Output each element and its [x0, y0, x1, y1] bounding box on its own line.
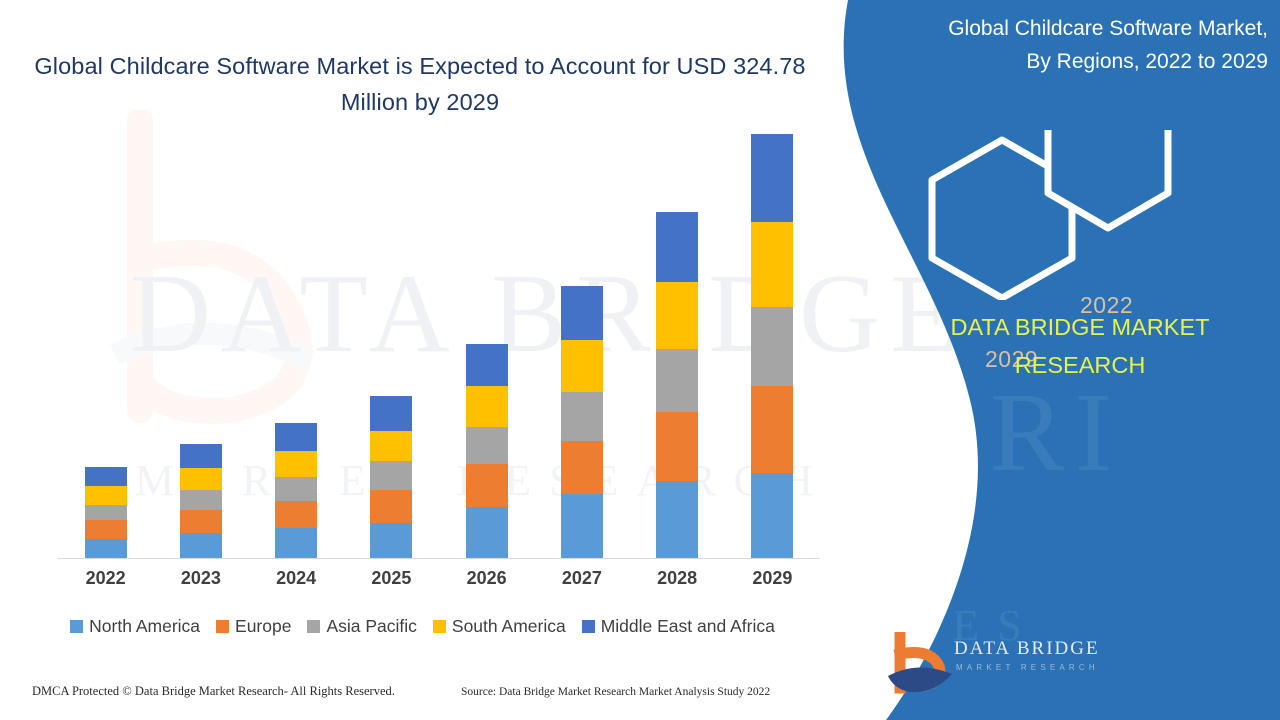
- bar-series-group: [58, 120, 820, 558]
- stacked-bar[interactable]: [180, 444, 222, 558]
- panel-title-line2: By Regions, 2022 to 2029: [890, 45, 1268, 78]
- bar-segment[interactable]: [85, 486, 127, 504]
- bar-segment[interactable]: [656, 282, 698, 349]
- x-axis-label: 2023: [153, 568, 248, 589]
- stacked-bar[interactable]: [561, 286, 603, 558]
- infographic-canvas: DATA BRIDGE MARKET RESEARCH Global Child…: [0, 0, 1280, 720]
- bar-segment[interactable]: [275, 528, 317, 558]
- bar-group-2028: [630, 120, 725, 558]
- stacked-bar[interactable]: [656, 212, 698, 558]
- bar-segment[interactable]: [370, 396, 412, 430]
- brand-panel-content: Global Childcare Software Market, By Reg…: [880, 0, 1280, 720]
- bar-segment[interactable]: [180, 490, 222, 510]
- bar-segment[interactable]: [561, 340, 603, 392]
- bar-segment[interactable]: [466, 344, 508, 386]
- legend-item[interactable]: South America: [433, 616, 566, 637]
- legend-swatch-icon: [307, 620, 320, 633]
- footer-source: Source: Data Bridge Market Research Mark…: [461, 686, 770, 698]
- panel-title-line1: Global Childcare Software Market,: [890, 12, 1268, 45]
- bar-segment[interactable]: [466, 427, 508, 463]
- x-axis-line: [58, 558, 820, 559]
- stacked-bar[interactable]: [370, 396, 412, 558]
- chart-container: [0, 120, 845, 560]
- legend-item[interactable]: Europe: [216, 616, 291, 637]
- hexagon-2022-icon: [1048, 130, 1168, 228]
- legend-item[interactable]: North America: [70, 616, 200, 637]
- bar-segment[interactable]: [561, 441, 603, 494]
- bar-segment[interactable]: [656, 481, 698, 558]
- x-axis-label: 2027: [534, 568, 629, 589]
- bar-group-2027: [534, 120, 629, 558]
- bar-segment[interactable]: [370, 431, 412, 462]
- dbmr-logo-icon: [886, 632, 956, 698]
- bar-segment[interactable]: [656, 212, 698, 281]
- bar-group-2029: [725, 120, 820, 558]
- bar-segment[interactable]: [656, 349, 698, 413]
- bar-segment[interactable]: [275, 451, 317, 477]
- bar-group-2023: [153, 120, 248, 558]
- legend-item[interactable]: Asia Pacific: [307, 616, 416, 637]
- dbmr-logo-subtitle: MARKET RESEARCH: [956, 663, 1099, 672]
- x-axis-label: 2022: [58, 568, 153, 589]
- bar-group-2024: [249, 120, 344, 558]
- bar-segment[interactable]: [180, 444, 222, 468]
- stacked-bar[interactable]: [751, 134, 793, 558]
- bar-segment[interactable]: [180, 533, 222, 558]
- legend-label: Middle East and Africa: [601, 616, 775, 637]
- footer-copyright: DMCA Protected © Data Bridge Market Rese…: [32, 684, 395, 699]
- bar-segment[interactable]: [656, 412, 698, 480]
- bar-segment[interactable]: [751, 307, 793, 387]
- bar-segment[interactable]: [180, 510, 222, 533]
- legend-label: Europe: [235, 616, 291, 637]
- legend-swatch-icon: [433, 620, 446, 633]
- dbmr-logo: DATA BRIDGE MARKET RESEARCH: [880, 630, 1140, 700]
- brand-line-2: RESEARCH: [880, 346, 1280, 384]
- chart-legend: North AmericaEuropeAsia PacificSouth Ame…: [0, 616, 845, 637]
- x-axis-label: 2029: [725, 568, 820, 589]
- bar-segment[interactable]: [466, 464, 508, 507]
- legend-swatch-icon: [582, 620, 595, 633]
- legend-item[interactable]: Middle East and Africa: [582, 616, 775, 637]
- bar-segment[interactable]: [85, 467, 127, 486]
- stacked-bar[interactable]: [85, 467, 127, 558]
- bar-group-2026: [439, 120, 534, 558]
- bar-segment[interactable]: [370, 523, 412, 558]
- legend-label: South America: [452, 616, 566, 637]
- bar-segment[interactable]: [751, 386, 793, 472]
- chart-title: Global Childcare Software Market is Expe…: [30, 48, 810, 120]
- x-axis-label: 2025: [344, 568, 439, 589]
- legend-swatch-icon: [216, 620, 229, 633]
- hexagon-icon-group: [880, 130, 1280, 300]
- bar-group-2025: [344, 120, 439, 558]
- bar-segment[interactable]: [751, 473, 793, 558]
- bar-group-2022: [58, 120, 153, 558]
- bar-segment[interactable]: [85, 520, 127, 538]
- bar-segment[interactable]: [370, 461, 412, 489]
- legend-label: North America: [89, 616, 200, 637]
- bar-segment[interactable]: [85, 539, 127, 558]
- stacked-bar[interactable]: [275, 423, 317, 558]
- panel-title: Global Childcare Software Market, By Reg…: [890, 12, 1276, 78]
- bar-segment[interactable]: [751, 134, 793, 223]
- hexagon-badges: 2029 2022: [880, 130, 1280, 290]
- bar-segment[interactable]: [85, 505, 127, 521]
- bar-segment[interactable]: [275, 501, 317, 528]
- dbmr-logo-title: DATA BRIDGE: [954, 638, 1100, 660]
- bar-segment[interactable]: [180, 468, 222, 490]
- brand-name: DATA BRIDGE MARKET RESEARCH: [880, 308, 1280, 384]
- brand-line-1: DATA BRIDGE MARKET: [880, 308, 1280, 346]
- bar-segment[interactable]: [466, 507, 508, 558]
- bar-segment[interactable]: [561, 392, 603, 441]
- x-axis-label: 2026: [439, 568, 534, 589]
- x-axis-label: 2028: [630, 568, 725, 589]
- legend-label: Asia Pacific: [326, 616, 416, 637]
- bar-segment[interactable]: [561, 286, 603, 339]
- x-axis-labels: 20222023202420252026202720282029: [58, 568, 820, 589]
- bar-segment[interactable]: [370, 490, 412, 523]
- bar-segment[interactable]: [466, 386, 508, 427]
- bar-segment[interactable]: [751, 222, 793, 306]
- bar-segment[interactable]: [561, 494, 603, 558]
- x-axis-label: 2024: [249, 568, 344, 589]
- bar-segment[interactable]: [275, 477, 317, 501]
- legend-swatch-icon: [70, 620, 83, 633]
- stacked-bar[interactable]: [466, 344, 508, 558]
- bar-segment[interactable]: [275, 423, 317, 451]
